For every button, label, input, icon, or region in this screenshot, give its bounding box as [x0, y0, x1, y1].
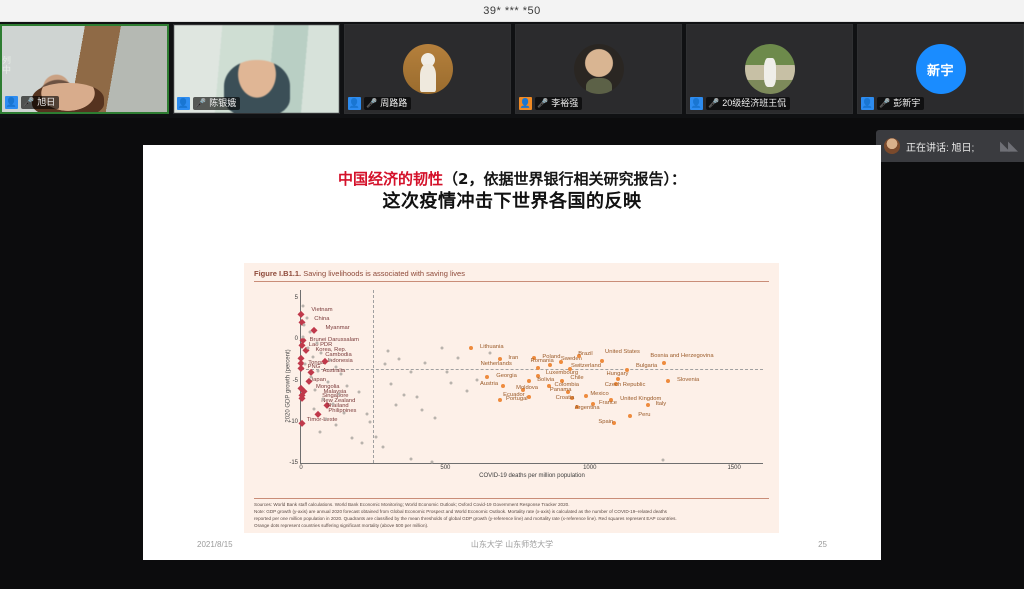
- participant-namebar: 👤🎤彭新宇: [861, 97, 924, 110]
- data-point-label: Spain: [598, 421, 613, 427]
- data-point: [360, 442, 363, 445]
- data-point: [382, 445, 385, 448]
- data-point: [318, 430, 321, 433]
- data-point: [386, 349, 389, 352]
- data-point-label: Bolivia: [537, 378, 554, 384]
- data-point: [662, 361, 666, 365]
- mic-muted-icon: 🎤: [879, 99, 890, 108]
- mic-status-chip[interactable]: 🎤陈银娥: [193, 97, 240, 110]
- audio-wave-icon: ◣◣: [1000, 138, 1016, 154]
- person-icon: 👤: [690, 97, 703, 110]
- data-point: [560, 379, 564, 383]
- data-point: [666, 379, 670, 383]
- person-icon: 👤: [5, 96, 18, 109]
- mic-status-chip[interactable]: 🎤20级经济班王侃: [706, 97, 790, 110]
- mic-status-chip[interactable]: 🎤彭新宇: [877, 97, 924, 110]
- data-point: [334, 424, 337, 427]
- data-point-label: Sweden: [561, 357, 582, 363]
- data-point: [298, 365, 304, 371]
- data-point-label: Georgia: [496, 374, 517, 380]
- data-point-label: Lao PDR: [309, 343, 333, 349]
- data-point: [383, 363, 386, 366]
- slide-title: 中国经济的韧性（2，依据世界银行相关研究报告）： 这次疫情冲击下世界各国的反映: [143, 145, 881, 214]
- data-point: [662, 458, 665, 461]
- data-point-label: Ecuador: [503, 393, 525, 399]
- participant-name: 李裕强: [551, 99, 578, 108]
- participant-namebar: 👤🎤李裕强: [519, 97, 582, 110]
- meeting-window: 39* *** *50 列中👤🎤旭日👤🎤陈银娥👤🎤周路路👤🎤李裕强👤🎤20级经济…: [0, 0, 1024, 589]
- data-point: [398, 358, 401, 361]
- tile-edge-label: 列中: [2, 56, 14, 76]
- data-point: [402, 394, 405, 397]
- data-point: [570, 396, 574, 400]
- data-point: [320, 351, 323, 354]
- data-point: [559, 360, 563, 364]
- data-point: [457, 356, 460, 359]
- person-icon: 👤: [519, 97, 532, 110]
- figure-number: Figure I.B1.1.: [254, 269, 301, 278]
- data-point: [646, 403, 650, 407]
- data-point: [424, 362, 427, 365]
- y-axis-tick: -5: [293, 378, 298, 384]
- data-point: [434, 416, 437, 419]
- data-point-label: Poland: [542, 355, 560, 361]
- data-point: [501, 384, 505, 388]
- participant-tile[interactable]: 新宇👤🎤彭新宇: [857, 24, 1024, 114]
- data-point: [584, 394, 588, 398]
- data-point: [616, 377, 620, 381]
- active-speaker-label: 正在讲话: 旭日;: [906, 139, 974, 154]
- data-point: [311, 355, 314, 358]
- data-point: [299, 395, 305, 401]
- data-point: [350, 437, 353, 440]
- scatter-plot: 2020 GDP growth (percent) COVID-19 death…: [254, 286, 769, 486]
- data-point: [548, 363, 552, 367]
- mic-on-icon: 🎤: [195, 99, 206, 108]
- data-point-label: Myanmar: [326, 326, 350, 332]
- figure-caption-text: Saving livelihoods is associated with sa…: [303, 269, 465, 278]
- window-titlebar: 39* *** *50: [0, 0, 1024, 22]
- data-point: [315, 341, 318, 344]
- data-point: [307, 346, 310, 349]
- data-point: [450, 382, 453, 385]
- data-point: [395, 404, 398, 407]
- data-point: [612, 421, 616, 425]
- participant-name: 周路路: [380, 99, 407, 108]
- participant-tile[interactable]: 👤🎤李裕强: [515, 24, 682, 114]
- avatar: [403, 44, 453, 94]
- data-point: [614, 382, 618, 386]
- slide-organization: 山东大学 山东师范大学: [405, 539, 619, 550]
- slide-footer: 2021/8/15 山东大学 山东师范大学 25: [143, 539, 881, 550]
- x-axis-tick: 1500: [727, 465, 740, 471]
- data-point: [476, 378, 479, 381]
- data-point-label: Peru: [638, 413, 650, 419]
- y-axis-tick: -10: [289, 419, 298, 425]
- data-point-label: Austria: [480, 382, 498, 388]
- data-point: [298, 311, 304, 317]
- y-axis-tick: 5: [295, 295, 298, 301]
- slide-title-line1: 中国经济的韧性（2，依据世界银行相关研究报告）：: [143, 169, 881, 189]
- data-point-label: Netherlands: [481, 362, 512, 368]
- participant-filmstrip[interactable]: 列中👤🎤旭日👤🎤陈银娥👤🎤周路路👤🎤李裕强👤🎤20级经济班王侃新宇👤🎤彭新宇: [0, 22, 1024, 118]
- data-point-label: Lithuania: [480, 345, 504, 351]
- data-point: [304, 363, 307, 366]
- data-point: [532, 356, 536, 360]
- data-point: [389, 382, 392, 385]
- data-point: [489, 352, 492, 355]
- data-point: [337, 392, 340, 395]
- data-point-label: Chile: [570, 376, 583, 382]
- data-point: [321, 358, 327, 364]
- data-point: [324, 402, 330, 408]
- mic-muted-icon: 🎤: [366, 99, 377, 108]
- participant-namebar: 👤🎤旭日: [5, 96, 59, 109]
- figure-note-line: reported per one million population in 2…: [254, 516, 769, 523]
- participant-name: 陈银娥: [209, 99, 236, 108]
- y-axis-tick: 0: [295, 336, 298, 342]
- data-point: [357, 391, 360, 394]
- data-point: [328, 359, 331, 362]
- data-point: [498, 357, 502, 361]
- avatar: [574, 44, 624, 94]
- mic-muted-icon: 🎤: [708, 99, 719, 108]
- data-point-label: France: [599, 401, 617, 407]
- data-point: [305, 317, 308, 320]
- data-point: [466, 389, 469, 392]
- screen-share-area: 正在讲话: 旭日; ◣◣ 中国经济的韧性（2，依据世界银行相关研究报告）： 这次…: [0, 118, 1024, 589]
- data-point: [340, 373, 343, 376]
- data-point: [577, 354, 581, 358]
- data-point-label: Portugal: [506, 397, 528, 403]
- data-point-label: Italy: [656, 402, 667, 408]
- data-point: [317, 369, 320, 372]
- data-point-label: Malaysia: [324, 390, 347, 396]
- data-point: [415, 396, 418, 399]
- participant-tile[interactable]: 列中👤🎤旭日: [0, 24, 169, 114]
- data-point: [327, 381, 330, 384]
- data-point: [409, 457, 412, 460]
- slide-title-line2: 这次疫情冲击下世界各国的反映: [143, 189, 881, 214]
- data-point-label: Singapore: [322, 394, 348, 400]
- participant-tile[interactable]: 👤🎤20级经济班王侃: [686, 24, 853, 114]
- data-point: [303, 324, 306, 327]
- data-point: [591, 402, 595, 406]
- data-point-label: Bosnia and Herzegovina: [650, 354, 713, 360]
- participant-name: 20级经济班王侃: [722, 99, 786, 108]
- y-axis-tick: -15: [289, 460, 298, 466]
- data-point: [521, 388, 525, 392]
- participant-name: 旭日: [37, 98, 55, 107]
- figure-caption: Figure I.B1.1. Saving livelihoods is ass…: [254, 269, 769, 282]
- data-point-label: Mexico: [590, 393, 608, 399]
- y-reference-line: [301, 369, 763, 370]
- data-point: [536, 366, 540, 370]
- data-point: [301, 305, 304, 308]
- data-point: [566, 390, 570, 394]
- data-point: [298, 419, 304, 425]
- y-axis-label: 2020 GDP growth (percent): [286, 349, 292, 422]
- mic-muted-icon: 🎤: [537, 99, 548, 108]
- avatar: [745, 44, 795, 94]
- data-point: [575, 405, 579, 409]
- data-point: [441, 347, 444, 350]
- data-point-label: Czech Republic: [605, 383, 646, 389]
- x-axis-label: COVID-19 deaths per million population: [479, 473, 585, 479]
- data-point: [334, 365, 337, 368]
- data-point: [536, 374, 540, 378]
- meeting-id-label: 39* *** *50: [483, 5, 541, 17]
- x-axis-tick: 1000: [583, 465, 596, 471]
- figure-note-line: Orange dots represent countries sufferin…: [254, 523, 769, 530]
- mic-status-chip[interactable]: 🎤旭日: [21, 96, 59, 109]
- data-point-label: United Kingdom: [620, 397, 661, 403]
- person-icon: 👤: [177, 97, 190, 110]
- data-point: [366, 413, 369, 416]
- data-point: [324, 417, 327, 420]
- data-point-label: Slovenia: [677, 379, 699, 385]
- data-point-label: Colombia: [555, 383, 580, 389]
- data-point: [302, 335, 305, 338]
- data-point: [346, 384, 349, 387]
- data-point: [431, 461, 434, 464]
- data-point-label: Japan: [310, 379, 326, 385]
- data-point: [421, 409, 424, 412]
- data-point-label: Vietnam: [311, 308, 332, 314]
- data-point-label: Moldova: [516, 386, 538, 392]
- participant-namebar: 👤🎤20级经济班王侃: [690, 97, 790, 110]
- mic-status-chip[interactable]: 🎤李裕强: [535, 97, 582, 110]
- data-point-label: Mongolia: [316, 386, 340, 392]
- data-point: [369, 420, 372, 423]
- data-point: [409, 371, 412, 374]
- data-point: [375, 435, 378, 438]
- data-point: [311, 326, 317, 332]
- plot-frame: COVID-19 deaths per million population 5…: [300, 290, 763, 464]
- data-point: [568, 367, 572, 371]
- data-point: [485, 375, 489, 379]
- data-point: [625, 368, 629, 372]
- data-point: [527, 395, 531, 399]
- avatar: 新宇: [916, 44, 966, 94]
- figure-note-line: Sources: World Bank staff calculations. …: [254, 502, 769, 509]
- data-point: [609, 398, 613, 402]
- slide-title-line1-rest: （2，依据世界银行相关研究报告）：: [443, 170, 686, 188]
- participant-namebar: 👤🎤陈银娥: [177, 97, 240, 110]
- data-point: [547, 384, 551, 388]
- slide-page-number: 25: [619, 540, 827, 549]
- data-point: [312, 407, 315, 410]
- participant-name: 彭新宇: [893, 99, 920, 108]
- data-point-label: United States: [605, 351, 640, 357]
- slide-date: 2021/8/15: [197, 540, 405, 549]
- mic-on-icon: 🎤: [23, 98, 34, 107]
- data-point: [331, 402, 334, 405]
- data-point: [445, 370, 448, 373]
- data-point: [498, 398, 502, 402]
- active-speaker-toast: 正在讲话: 旭日; ◣◣: [876, 130, 1024, 162]
- person-icon: 👤: [861, 97, 874, 110]
- participant-tile[interactable]: 👤🎤周路路: [344, 24, 511, 114]
- data-point: [343, 411, 346, 414]
- figure-panel: Figure I.B1.1. Saving livelihoods is ass…: [244, 263, 779, 533]
- data-point: [600, 359, 604, 363]
- figure-note-line: Note: GDP growth (y-axis) are annual 202…: [254, 509, 769, 516]
- slide-title-highlight: 中国经济的韧性: [338, 170, 443, 188]
- data-point: [310, 376, 313, 379]
- speaker-avatar-icon: [884, 138, 900, 154]
- x-axis-tick: 500: [440, 465, 450, 471]
- participant-namebar: 👤🎤周路路: [348, 97, 411, 110]
- data-point: [321, 397, 324, 400]
- data-point-label: Luxembourg: [546, 371, 578, 377]
- data-point: [469, 346, 473, 350]
- presented-slide: 中国经济的韧性（2，依据世界银行相关研究报告）： 这次疫情冲击下世界各国的反映 …: [143, 145, 881, 560]
- data-point: [628, 414, 632, 418]
- figure-notes: Sources: World Bank staff calculations. …: [254, 498, 769, 530]
- data-point: [314, 388, 317, 391]
- data-point-label: Iran: [508, 356, 518, 362]
- data-point: [527, 379, 531, 383]
- mic-status-chip[interactable]: 🎤周路路: [364, 97, 411, 110]
- data-point-label: Timor-Leste: [307, 418, 338, 424]
- data-point: [308, 331, 311, 334]
- x-axis-tick: 0: [299, 465, 302, 471]
- participant-tile[interactable]: 👤🎤陈银娥: [173, 24, 340, 114]
- data-point: [315, 410, 321, 416]
- person-icon: 👤: [348, 97, 361, 110]
- data-point-label: China: [314, 317, 329, 323]
